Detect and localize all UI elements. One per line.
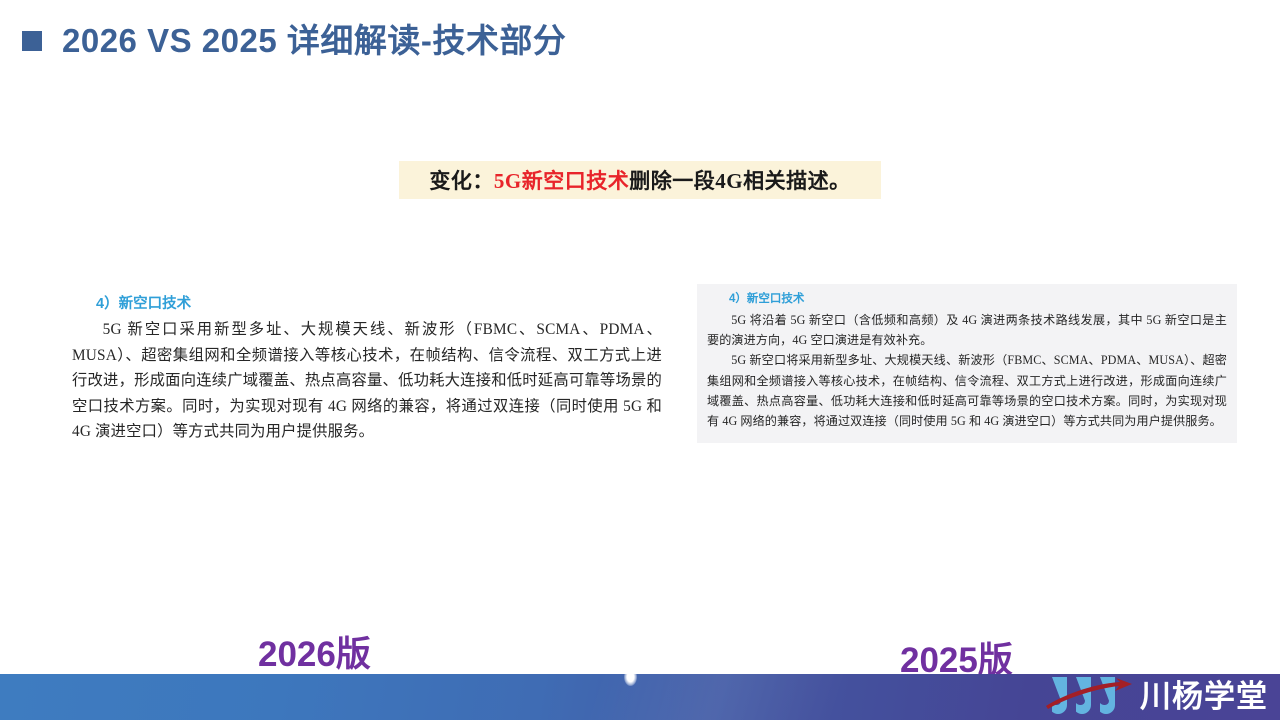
footer-bar: 川杨学堂 [0,674,1280,720]
callout-suffix: 删除一段4G相关描述。 [629,169,850,193]
document-excerpt-2026: 4）新空口技术 5G 新空口采用新型多址、大规模天线、新波形（FBMC、SCMA… [62,286,672,455]
three-bars-swoosh-icon [1046,674,1132,719]
callout-highlight: 5G新空口技术 [494,169,629,193]
slide-root: 2026 VS 2025 详细解读-技术部分 变化：5G新空口技术删除一段4G相… [0,0,1280,720]
document-paragraph: 5G 新空口采用新型多址、大规模天线、新波形（FBMC、SCMA、PDMA、MU… [72,317,662,445]
change-callout-text: 变化：5G新空口技术删除一段4G相关描述。 [429,165,850,195]
document-heading-2026: 4）新空口技术 [72,292,662,313]
square-bullet-icon [22,31,42,51]
change-callout: 变化：5G新空口技术删除一段4G相关描述。 [399,161,881,199]
page-title-text: 2026 VS 2025 详细解读-技术部分 [62,14,566,62]
document-paragraph: 5G 新空口将采用新型多址、大规模天线、新波形（FBMC、SCMA、PDMA、M… [707,350,1227,431]
page-title: 2026 VS 2025 详细解读-技术部分 [22,14,566,62]
document-excerpt-2025: 4）新空口技术 5G 将沿着 5G 新空口（含低频和高频）及 4G 演进两条技术… [697,284,1237,443]
callout-prefix: 变化： [429,169,494,193]
version-label-2026: 2026版 [258,626,371,677]
footer-sheen-decoration [566,674,861,720]
document-paragraph: 5G 将沿着 5G 新空口（含低频和高频）及 4G 演进两条技术路线发展，其中 … [707,310,1227,350]
brand-logo: 川杨学堂 [1046,674,1268,719]
document-heading-2025: 4）新空口技术 [707,290,1227,306]
brand-logo-text: 川杨学堂 [1140,675,1268,719]
